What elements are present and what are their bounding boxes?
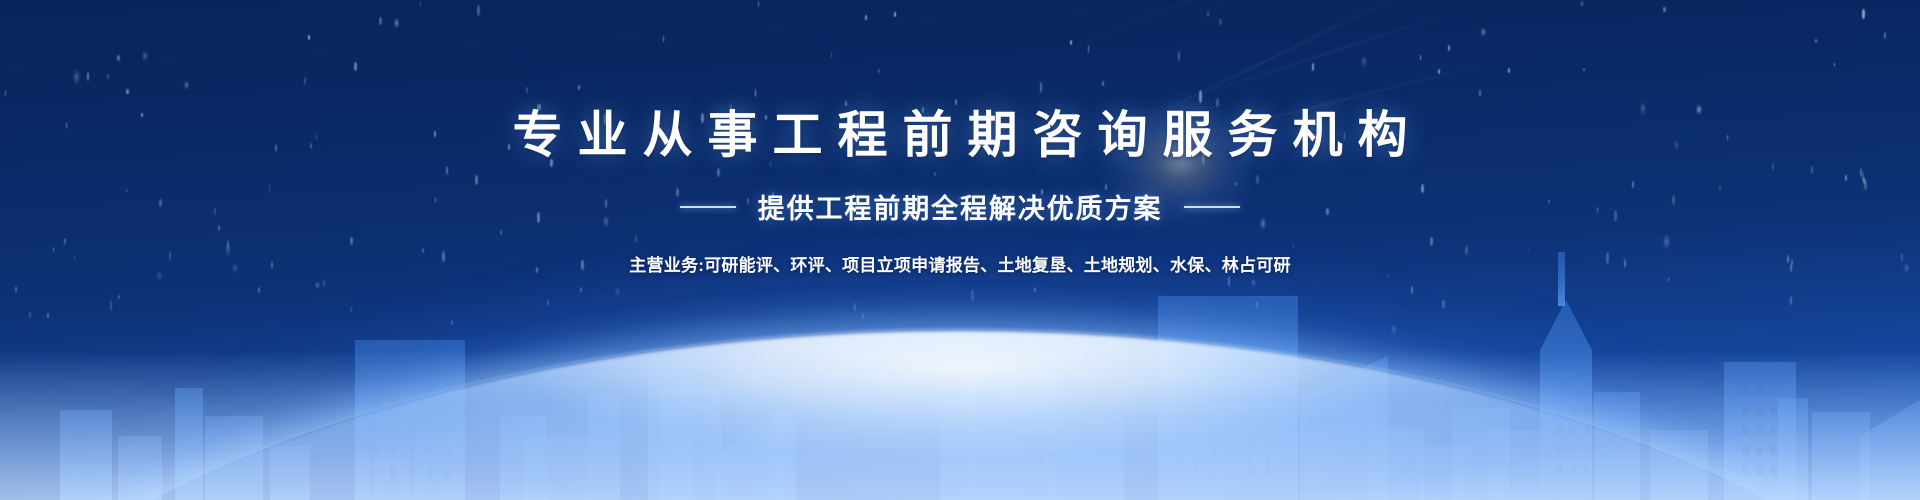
left-rule-icon (680, 206, 736, 208)
banner-business-scope: 主营业务:可研能评、环评、项目立项申请报告、土地复垦、土地规划、水保、林占可研 (629, 251, 1291, 276)
banner-subtitle-row: 提供工程前期全程解决优质方案 (680, 187, 1240, 226)
banner-content: 专业从事工程前期咨询服务机构 提供工程前期全程解决优质方案 主营业务:可研能评、… (0, 0, 1920, 500)
banner-subtitle: 提供工程前期全程解决优质方案 (758, 187, 1162, 226)
banner-headline: 专业从事工程前期咨询服务机构 (498, 110, 1423, 160)
hero-banner: 专业从事工程前期咨询服务机构 提供工程前期全程解决优质方案 主营业务:可研能评、… (0, 0, 1920, 500)
right-rule-icon (1184, 206, 1240, 208)
